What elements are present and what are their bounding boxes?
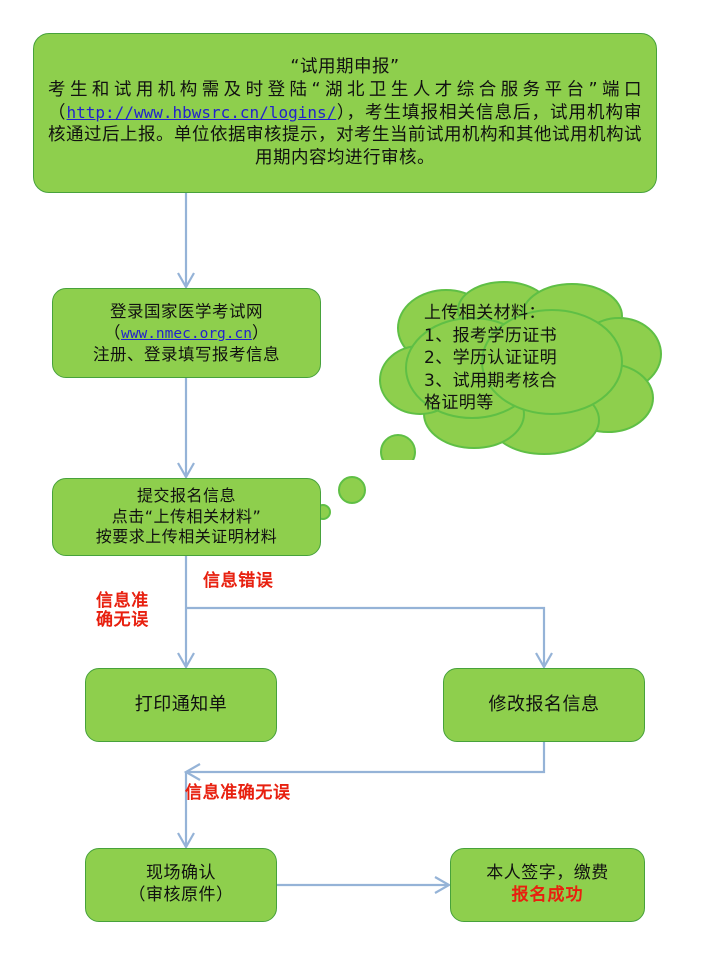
node-print-notice: 打印通知单: [85, 668, 277, 742]
node-sign-and-pay: 本人签字，缴费 报名成功: [450, 848, 645, 922]
cloud-tail-bubble-medium: [339, 477, 365, 503]
login-paren-close: ）: [252, 323, 269, 342]
edge-label-info-correct-bottom: 信息准确无误: [185, 784, 291, 803]
registration-success-text: 报名成功: [512, 885, 584, 907]
submit-line-1: 提交报名信息: [137, 486, 236, 506]
cloud-line-4: 3、试用期考核合: [424, 370, 634, 393]
modify-line-1: 修改报名信息: [489, 693, 600, 716]
submit-line-2: 点击“上传相关材料”: [112, 507, 262, 527]
cloud-line-3: 2、学历认证证明: [424, 347, 634, 370]
sign-line-1: 本人签字，缴费: [486, 863, 609, 885]
submit-line-3: 按要求上传相关证明材料: [96, 527, 278, 547]
onsite-line-2: （审核原件）: [129, 885, 234, 907]
cloud-line-1: 上传相关材料：: [424, 302, 634, 325]
node-modify-registration-info: 修改报名信息: [443, 668, 645, 742]
arrowhead-submit-to-modify: [536, 653, 552, 667]
flowchart-canvas: 上传相关材料： 1、报考学历证书 2、学历认证证明 3、试用期考核合 格证明等 …: [0, 0, 704, 960]
arrowhead-modify-to-left: [186, 764, 200, 780]
cloud-line-2: 1、报考学历证书: [424, 325, 634, 348]
intro-body: 考生和试用机构需及时登陆“湖北卫生人才综合服务平台”端口（http://www.…: [48, 79, 642, 170]
arrowhead-login-to-submit: [178, 463, 194, 477]
cloud-tail-bubble-large: [381, 435, 415, 460]
arrowhead-submit-to-print: [178, 653, 194, 667]
edge-label-info-correct-top: 信息准 确无误: [96, 592, 149, 630]
cloud-line-5: 格证明等: [424, 392, 634, 415]
login-line-3: 注册、登录填写报考信息: [93, 344, 280, 365]
arrowhead-intro-to-login: [178, 273, 194, 287]
intro-title: “试用期申报”: [290, 56, 399, 79]
hbwsrc-link[interactable]: http://www.hbwsrc.cn/logins/: [67, 103, 337, 122]
cloud-text-block: 上传相关材料： 1、报考学历证书 2、学历认证证明 3、试用期考核合 格证明等: [424, 302, 634, 415]
arrowhead-left-to-onsite: [178, 833, 194, 847]
node-submit-registration-info: 提交报名信息 点击“上传相关材料” 按要求上传相关证明材料: [52, 478, 321, 556]
login-paren-open: （: [104, 323, 121, 342]
node-login-nmec: 登录国家医学考试网 （www.nmec.org.cn） 注册、登录填写报考信息: [52, 288, 321, 378]
connector-submit-to-modify: [186, 608, 544, 666]
node-trial-period-declaration: “试用期申报” 考生和试用机构需及时登陆“湖北卫生人才综合服务平台”端口（htt…: [33, 33, 657, 193]
login-line-2: （www.nmec.org.cn）: [104, 322, 269, 344]
edge-label-correct-top-line-2: 确无误: [96, 611, 149, 630]
onsite-line-1: 现场确认: [146, 863, 216, 885]
node-onsite-confirmation: 现场确认 （审核原件）: [85, 848, 277, 922]
connector-modify-to-left: [187, 742, 544, 772]
edge-label-correct-top-line-1: 信息准: [96, 592, 149, 611]
upload-materials-callout: 上传相关材料： 1、报考学历证书 2、学历认证证明 3、试用期考核合 格证明等: [376, 280, 666, 460]
login-line-1: 登录国家医学考试网: [110, 301, 263, 322]
arrowhead-onsite-to-sign: [435, 877, 449, 893]
nmec-link[interactable]: www.nmec.org.cn: [121, 326, 252, 342]
print-line-1: 打印通知单: [135, 693, 228, 716]
edge-label-info-error: 信息错误: [203, 572, 273, 591]
